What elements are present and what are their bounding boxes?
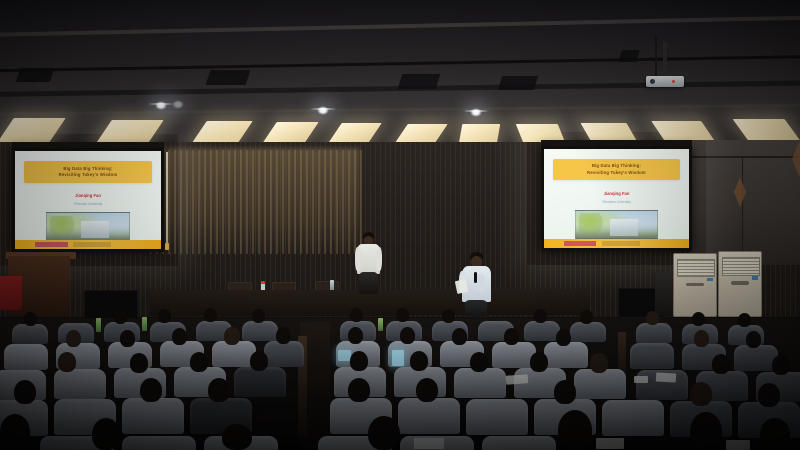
ac-badge: [752, 276, 758, 279]
ceiling-panel-light: [0, 118, 66, 144]
audience-seat[interactable]: [54, 369, 106, 399]
slide-title-line2: Revisiting Tukey's Wisdom: [556, 170, 678, 176]
audience-head: [224, 327, 240, 345]
notes-paper[interactable]: [414, 438, 444, 449]
ceiling: [0, 0, 800, 150]
slide-content: Big Data Big Thinking: Revisiting Tukey'…: [544, 149, 689, 248]
wall-lit-slats: [150, 150, 365, 254]
audience-head: [250, 351, 268, 371]
audience-head: [712, 354, 730, 374]
audience-seat[interactable]: [454, 368, 506, 398]
wall-diamond-accent: [792, 142, 800, 176]
audience-head: [470, 352, 488, 372]
presenter-legs: [465, 300, 487, 316]
audience-head: [746, 331, 761, 348]
pull-cord-knob[interactable]: [165, 243, 169, 250]
notes-paper[interactable]: [656, 372, 676, 382]
ceiling-spot-light: [172, 100, 184, 109]
photo-building: [610, 219, 638, 237]
audience-head-foreground: [222, 424, 252, 450]
red-banner: [0, 276, 22, 310]
audience-seat[interactable]: [242, 321, 278, 341]
audience-head: [442, 309, 455, 323]
slide-author: Jianqing Fan: [604, 191, 630, 196]
notes-paper[interactable]: [596, 438, 624, 449]
air-conditioner-unit: [718, 251, 762, 317]
photo-tree: [579, 213, 603, 234]
presenter-arm: [376, 247, 382, 271]
audience-seat[interactable]: [636, 323, 672, 343]
photo-building: [81, 221, 109, 238]
audience-seat[interactable]: [398, 398, 460, 434]
ceiling-spot-light: [317, 106, 329, 115]
wall-diamond-accent: [734, 177, 746, 207]
ac-vent-slot: [731, 281, 749, 284]
audience-head-foreground: [760, 418, 790, 450]
audience-head: [694, 330, 709, 347]
left-projection-screen[interactable]: Big Data Big Thinking: Revisiting Tukey'…: [12, 148, 164, 252]
audience-head: [158, 309, 171, 323]
presenter-papers: [455, 279, 468, 294]
audience-head: [646, 311, 659, 325]
audience-head: [772, 355, 790, 375]
audience-head: [350, 308, 363, 322]
projector-lens-icon: [650, 79, 655, 84]
standing-presenter-left: [352, 232, 384, 294]
audience-seat[interactable]: [264, 341, 304, 367]
audience-head: [504, 328, 519, 345]
lecture-hall-photo: Big Data Big Thinking: Revisiting Tukey'…: [0, 0, 800, 450]
screen-roller-housing: [541, 140, 692, 146]
equipment-rack: [655, 272, 672, 316]
projector-mount-rod: [663, 42, 667, 74]
slide-author: Jianqing Fan: [75, 193, 101, 198]
slide-footer-accent: [73, 242, 111, 247]
ceiling-spot-light: [470, 108, 482, 117]
audience-head: [172, 328, 187, 345]
ceiling-beam: [0, 54, 800, 73]
audience-head-foreground: [92, 418, 120, 450]
audience-head: [140, 378, 162, 402]
audience-head: [452, 328, 467, 345]
audience-head: [208, 378, 230, 402]
audience-seat[interactable]: [4, 344, 48, 370]
right-wall-panel: [690, 140, 800, 265]
audience-seat[interactable]: [122, 436, 196, 450]
audience-seat[interactable]: [12, 324, 48, 344]
ceiling-vent: [206, 70, 251, 85]
phone-screen[interactable]: [392, 350, 404, 366]
projector-cable: [655, 36, 657, 76]
audience-head-foreground: [0, 414, 30, 450]
audience-head: [580, 310, 593, 324]
head-table: [408, 289, 590, 315]
audience-head: [348, 327, 363, 344]
audience-head: [114, 310, 127, 324]
audience-head-foreground: [690, 412, 722, 450]
ceiling-spot-light: [155, 101, 167, 110]
speaking-presenter-right: [458, 252, 496, 316]
audience-head: [758, 383, 780, 407]
presenter-arm-with-mic: [476, 274, 485, 291]
ceiling-beam: [0, 103, 800, 115]
presenter-arm: [355, 247, 361, 271]
audience-seat[interactable]: [482, 436, 556, 450]
audience-head: [130, 353, 148, 373]
ac-grille: [677, 259, 714, 277]
ceiling-vent: [398, 74, 441, 89]
audience-head: [204, 308, 217, 322]
slide-title-band: Big Data Big Thinking: Revisiting Tukey'…: [24, 161, 152, 182]
presenter-legs: [359, 272, 378, 294]
audience-head-foreground: [368, 416, 400, 450]
audience-head: [58, 352, 76, 372]
audience-head-foreground: [558, 410, 592, 450]
audience-head: [14, 380, 36, 404]
audience-seat[interactable]: [122, 398, 184, 434]
ac-vent-slot: [686, 283, 704, 286]
audience-head: [276, 327, 291, 344]
slide-content: Big Data Big Thinking: Revisiting Tukey'…: [15, 151, 161, 249]
audience-head: [416, 378, 438, 402]
audience-seat[interactable]: [544, 342, 588, 368]
audience-head: [348, 378, 370, 402]
audience-head: [690, 382, 712, 406]
slide-footer-bar: [544, 239, 689, 248]
water-bottle[interactable]: [378, 318, 383, 331]
slide-footer-accent: [564, 241, 596, 246]
audience-head: [190, 352, 208, 372]
slide-title-band: Big Data Big Thinking: Revisiting Tukey'…: [553, 159, 681, 180]
audience-head: [400, 327, 415, 344]
audience-seat[interactable]: [630, 343, 674, 369]
ceiling-vent: [16, 68, 55, 82]
audience-head: [534, 309, 547, 323]
notes-paper[interactable]: [726, 440, 750, 450]
screen-roller-housing: [12, 142, 164, 148]
audience-head: [252, 309, 265, 323]
ceiling-beam: [0, 15, 800, 38]
audience-seat[interactable]: [524, 321, 560, 341]
slide-affiliation: Princeton University: [602, 200, 630, 204]
left-screen-surface: Big Data Big Thinking: Revisiting Tukey'…: [15, 151, 161, 249]
slide-footer-bar: [15, 240, 161, 249]
audience-head: [738, 313, 751, 327]
slide-affiliation: Princeton University: [74, 202, 102, 206]
audience-head: [120, 330, 135, 347]
ac-badge: [707, 278, 713, 281]
projector-status-led-icon: [672, 80, 675, 83]
audience-seat[interactable]: [574, 369, 626, 399]
audience-head: [410, 351, 428, 371]
audience-head: [24, 312, 37, 326]
audience-head: [590, 353, 608, 373]
audience-head: [530, 352, 548, 372]
notes-paper[interactable]: [634, 376, 648, 383]
slide-footer-accent: [602, 241, 640, 246]
left-screen-pull-cord[interactable]: [166, 152, 168, 244]
wall-seam: [742, 158, 743, 265]
audience-head: [350, 351, 368, 371]
handheld-microphone[interactable]: [474, 272, 477, 283]
audience-seat[interactable]: [570, 322, 606, 342]
water-bottle[interactable]: [142, 317, 147, 331]
air-conditioner-unit: [673, 253, 717, 317]
audience-seat[interactable]: [466, 399, 528, 435]
ceiling-vent: [498, 76, 539, 90]
slide-title-line2: Revisiting Tukey's Wisdom: [27, 172, 150, 178]
audience-seat[interactable]: [234, 367, 286, 397]
audience-seat[interactable]: [602, 400, 664, 436]
slide-footer-accent: [35, 242, 67, 247]
audience-head: [396, 308, 409, 322]
notes-paper[interactable]: [506, 374, 529, 385]
audience-head: [554, 380, 576, 404]
water-bottle[interactable]: [96, 318, 101, 332]
audience-head: [556, 329, 571, 346]
ac-grille: [722, 257, 759, 276]
right-projection-screen[interactable]: Big Data Big Thinking: Revisiting Tukey'…: [541, 146, 692, 251]
audience-head: [692, 312, 705, 326]
wall-seam: [690, 156, 800, 158]
audience-head: [66, 330, 81, 347]
right-screen-surface: Big Data Big Thinking: Revisiting Tukey'…: [544, 149, 689, 248]
photo-tree: [50, 216, 75, 237]
